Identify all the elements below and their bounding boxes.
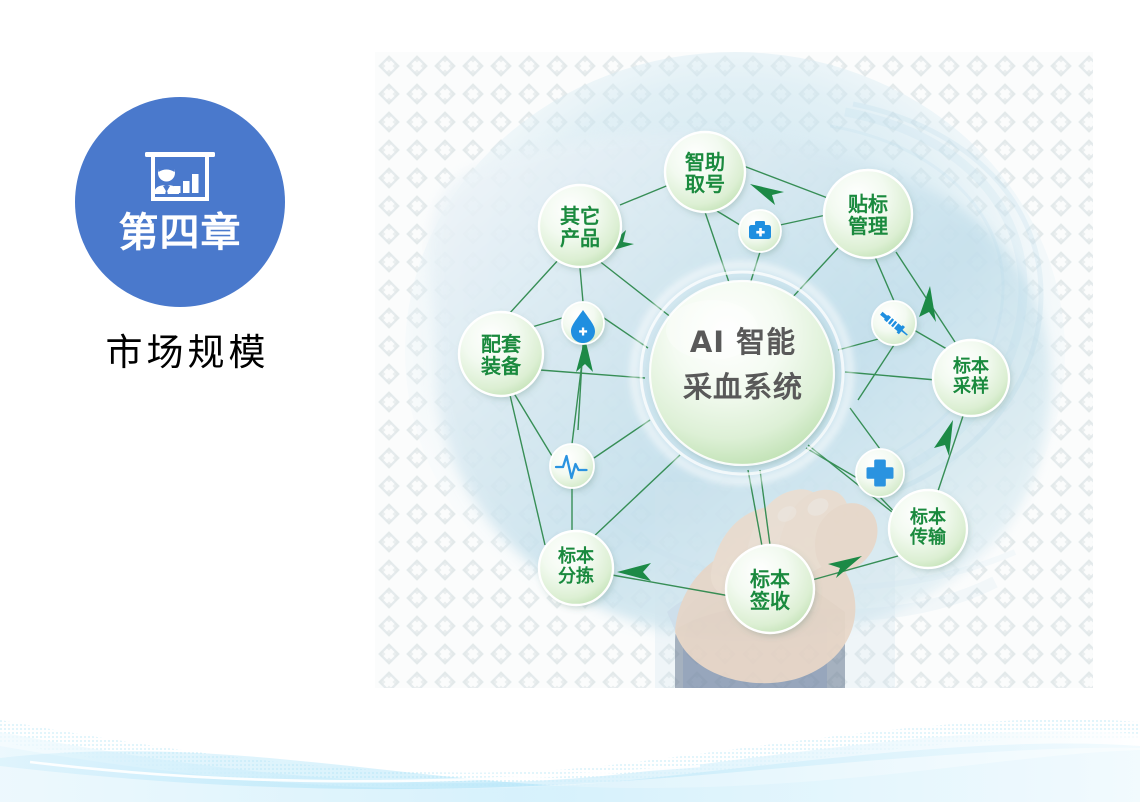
presentation-chart-icon	[141, 150, 219, 210]
page-title: 市场规模	[0, 322, 375, 376]
left-panel: 第四章 市场规模	[0, 0, 375, 700]
chapter-badge: 第四章	[75, 97, 285, 307]
chapter-badge-label: 第四章	[119, 212, 242, 254]
diagram-background	[375, 52, 1093, 688]
bottom-wave-decoration	[0, 692, 1140, 802]
diagram-panel: 智助取号 贴标管理 标本采样 标本传输 标本签收 标本分拣 配套装备 其它产品	[375, 52, 1093, 688]
